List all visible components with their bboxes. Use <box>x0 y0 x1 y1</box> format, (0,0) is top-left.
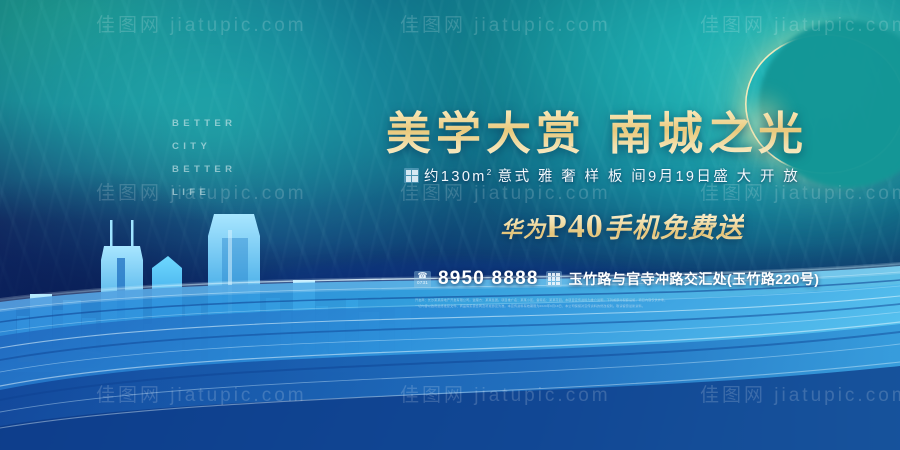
promo-giveaway-text: 华为P40手机免费送 <box>500 206 744 246</box>
subtitle-suffix: 意式 雅 奢 样 板 间9月19日盛 大 开 放 <box>491 169 800 185</box>
grid-location-icon <box>546 271 562 287</box>
telephone-icon: ☎ 0731 <box>414 271 431 288</box>
eyebrow-slogan: BETTER CITY BETTER LIFE <box>172 112 312 204</box>
disclaimer-line-2: 一切内容以政府最终批复文件、商品房买卖合同及补充协议为准。本宣传资料有效期限为2… <box>415 304 767 310</box>
eyebrow-line-1: BETTER <box>172 112 312 135</box>
subtitle-text: 约130m2 意式 雅 奢 样 板 间9月19日盛 大 开 放 <box>424 165 800 186</box>
phone-number[interactable]: 8950 8888 <box>438 268 539 290</box>
subtitle-row: 约130m2 意式 雅 奢 样 板 间9月19日盛 大 开 放 <box>404 165 800 186</box>
legal-disclaimer: 开发商：长沙某某房地产开发有限公司。监理方：某某集团。项目推广名：某某小区。备案… <box>415 298 767 309</box>
subtitle-prefix: 约130m <box>424 169 487 185</box>
headline-left: 美学大赏 <box>386 109 586 159</box>
area-code: 0731 <box>417 281 428 286</box>
promo-model: P40 <box>546 208 604 245</box>
contact-row: ☎ 0731 8950 8888 玉竹路与官寺冲路交汇处(玉竹路220号) <box>414 268 819 290</box>
address-text: 玉竹路与官寺冲路交汇处(玉竹路220号) <box>569 269 820 289</box>
page-title: 美学大赏南城之光 <box>386 97 808 162</box>
headline-right: 南城之光 <box>608 109 808 159</box>
poster-canvas: BETTER CITY BETTER LIFE 美学大赏南城之光 约130m2 … <box>0 0 900 450</box>
promo-prefix: 华为 <box>500 217 546 242</box>
promo-suffix: 手机免费送 <box>604 213 744 243</box>
four-square-badge-icon <box>404 168 419 183</box>
eyebrow-line-3: BETTER <box>172 158 312 181</box>
eyebrow-line-4: LIFE <box>172 181 312 204</box>
eyebrow-line-2: CITY <box>172 135 312 158</box>
